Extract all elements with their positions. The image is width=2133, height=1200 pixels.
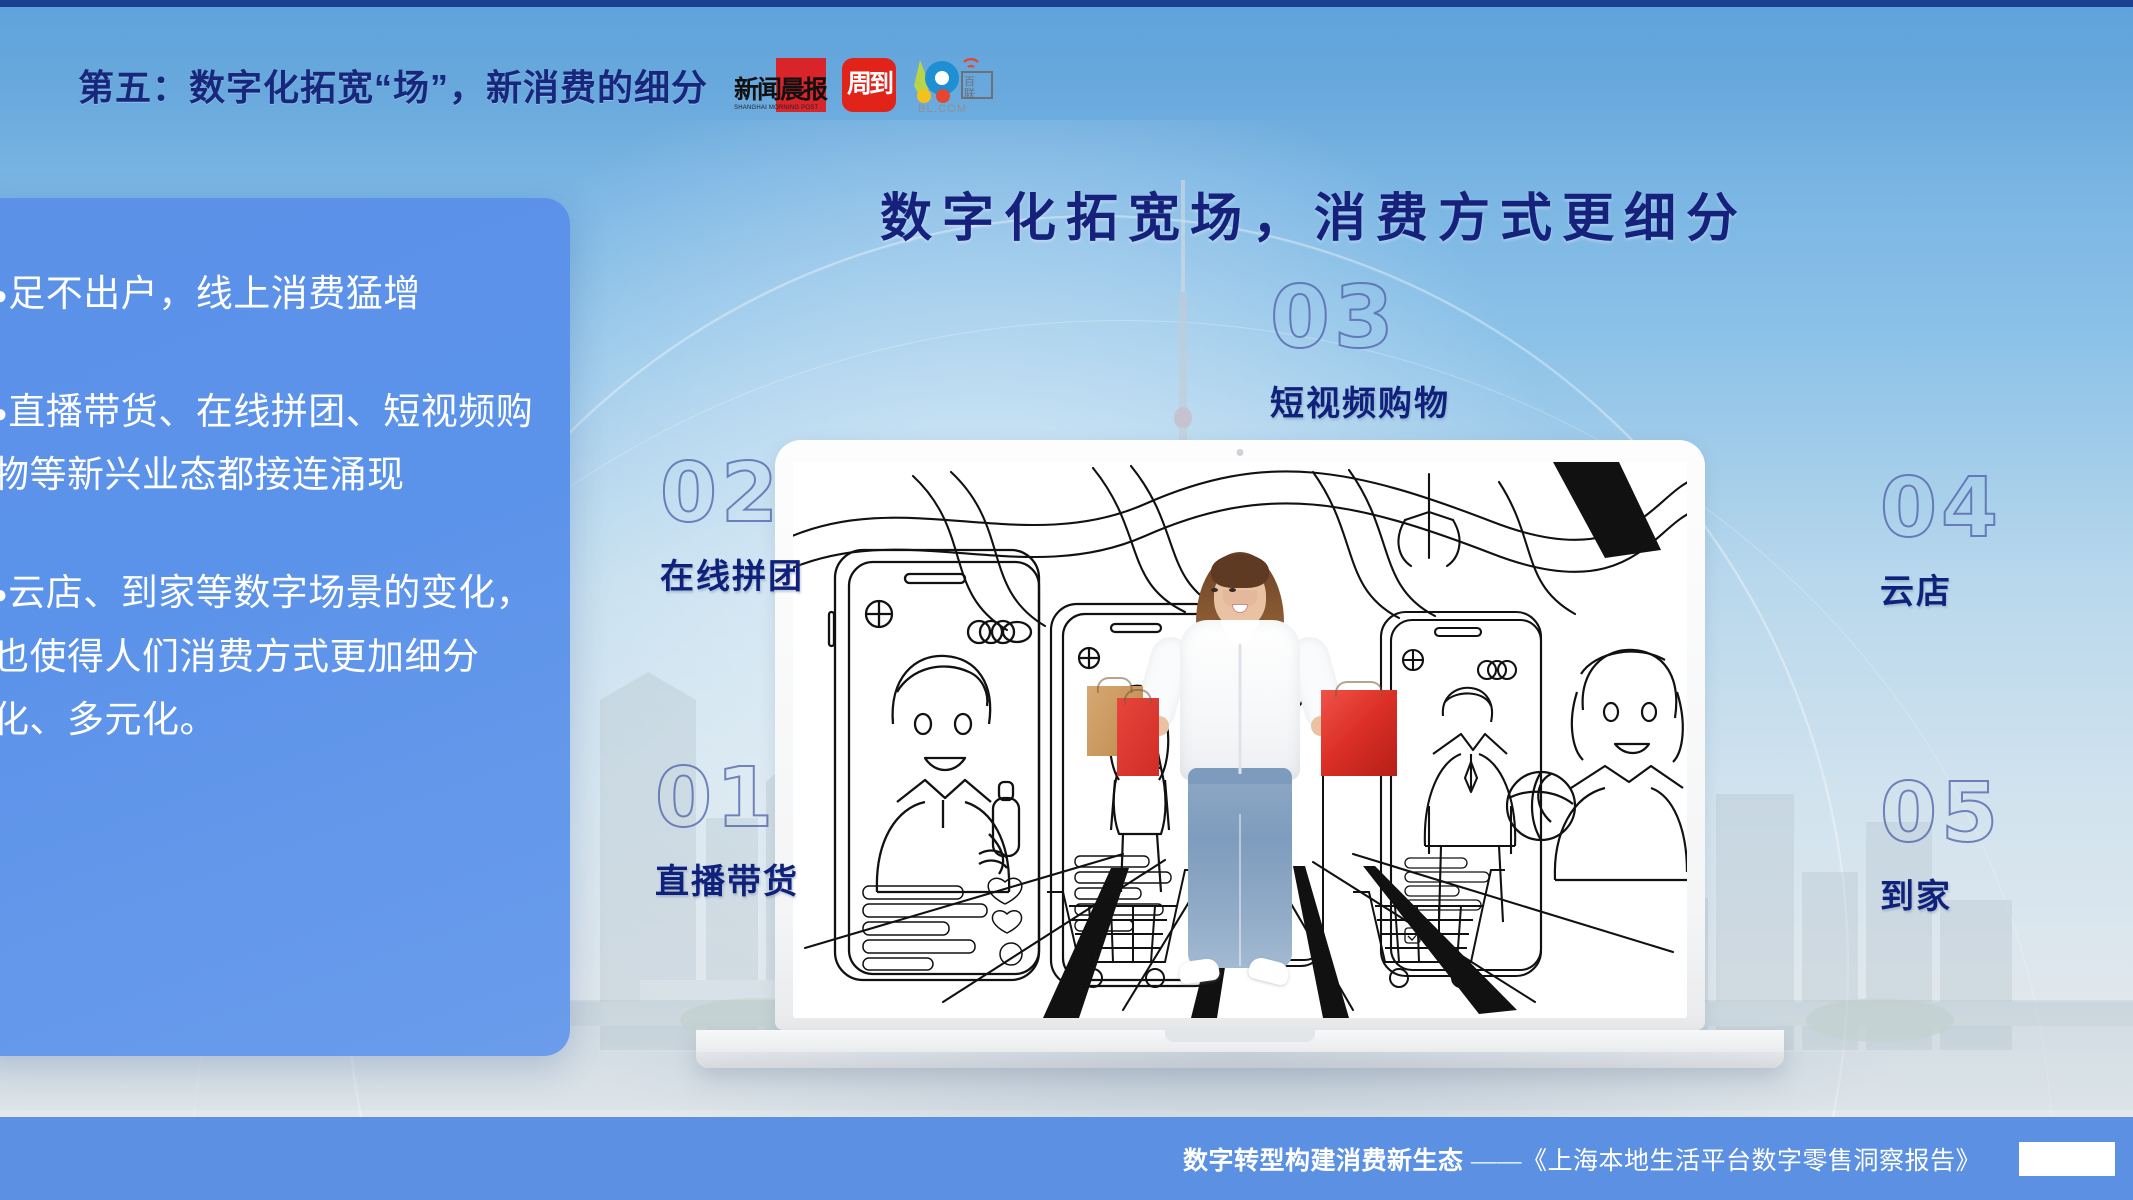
sidebar-bullet-2-text: 直播带货、在线拼团、短视频购物等新兴业态都接连涌现 bbox=[0, 391, 533, 496]
item-03-number: 03 bbox=[1270, 278, 1450, 360]
chenbao-logo-en: SHANGHAI MORNING POST bbox=[734, 105, 818, 111]
laptop-screen bbox=[793, 462, 1687, 1018]
laptop-lid bbox=[775, 440, 1705, 1030]
item-02-group-buy: 02 在线拼团 bbox=[660, 455, 804, 598]
sidebar-bullet-1: ●足不出户，线上消费猛增 bbox=[0, 262, 536, 326]
item-05-delivery-home: 05 到家 bbox=[1880, 775, 2002, 918]
item-01-number: 01 bbox=[655, 760, 799, 838]
bailian-mark-icon: 百 联 bbox=[912, 56, 1004, 104]
slide-footer: 数字转型构建消费新生态 ——《上海本地生活平台数字零售洞察报告》 bbox=[0, 1117, 2133, 1200]
bailian-logo-en: BL.COM bbox=[918, 103, 967, 115]
shopping-bag-red-small bbox=[1117, 698, 1159, 776]
item-01-live-commerce: 01 直播带货 bbox=[655, 760, 799, 903]
main-heading: 数字化拓宽场，消费方式更细分 bbox=[880, 176, 1748, 251]
item-03-short-video-shopping: 03 短视频购物 bbox=[1270, 278, 1450, 425]
chenbao-logo: 新闻晨报 SHANGHAI MORNING POST bbox=[734, 56, 826, 114]
bullet-marker-icon: ● bbox=[0, 579, 8, 609]
woman-hair-front bbox=[1211, 554, 1269, 588]
laptop-mockup bbox=[775, 440, 1705, 1068]
bullet-marker-icon: ● bbox=[0, 398, 8, 428]
item-01-label: 直播带货 bbox=[655, 854, 799, 903]
footer-title: 数字转型构建消费新生态 ——《上海本地生活平台数字零售洞察报告》 bbox=[1183, 1141, 1981, 1177]
woman-eye-left bbox=[1211, 588, 1218, 592]
item-02-label: 在线拼团 bbox=[660, 549, 804, 598]
bailian-logo: 百 联 BL.COM bbox=[912, 56, 1004, 114]
sidebar-bullet-1-text: 足不出户，线上消费猛增 bbox=[8, 273, 421, 314]
item-03-label: 短视频购物 bbox=[1270, 376, 1450, 425]
sidebar-bullet-2: ●直播带货、在线拼团、短视频购物等新兴业态都接连涌现 bbox=[0, 380, 536, 507]
footer-white-block bbox=[2019, 1142, 2115, 1176]
footer-title-text: 数字转型构建消费新生态 bbox=[1183, 1147, 1464, 1175]
item-05-label: 到家 bbox=[1880, 869, 2002, 918]
sidebar-bullet-3: ●云店、到家等数字场景的变化，也使得人们消费方式更加细分化、多元化。 bbox=[0, 561, 536, 752]
woman-shirt-placket bbox=[1239, 644, 1242, 774]
footer-subtitle: ——《上海本地生活平台数字零售洞察报告》 bbox=[1471, 1148, 1981, 1175]
top-accent-rule bbox=[0, 0, 2133, 7]
woman-blue-jeans bbox=[1188, 768, 1292, 968]
slide-canvas: 第五：数字化拓宽“场”，新消费的细分 新闻晨报 SHANGHAI MORNING… bbox=[0, 0, 2133, 1200]
page-title: 第五：数字化拓宽“场”，新消费的细分 bbox=[78, 59, 708, 111]
item-04-label: 云店 bbox=[1880, 564, 2002, 613]
shopping-bag-red-large bbox=[1321, 690, 1397, 776]
woman-eye-right bbox=[1229, 588, 1236, 592]
bag-handle bbox=[1335, 681, 1383, 697]
zhoudao-logo-cn: 周到 bbox=[847, 72, 891, 97]
item-04-number: 04 bbox=[1880, 470, 2002, 548]
logo-group: 新闻晨报 SHANGHAI MORNING POST 周到 bbox=[734, 56, 1004, 114]
laptop-base-notch bbox=[1165, 1030, 1315, 1042]
item-04-cloud-store: 04 云店 bbox=[1880, 470, 2002, 613]
photo-woman-shopper bbox=[1145, 540, 1335, 1018]
sidebar-card: ●足不出户，线上消费猛增 ●直播带货、在线拼团、短视频购物等新兴业态都接连涌现 … bbox=[0, 198, 570, 1056]
bullet-marker-icon: ● bbox=[0, 280, 8, 310]
svg-text:百: 百 bbox=[964, 76, 975, 88]
item-02-number: 02 bbox=[660, 455, 804, 533]
woman-sneaker-left bbox=[1178, 957, 1221, 984]
sidebar-bullet-3-text: 云店、到家等数字场景的变化，也使得人们消费方式更加细分化、多元化。 bbox=[0, 572, 533, 740]
item-05-number: 05 bbox=[1880, 775, 2002, 853]
svg-text:联: 联 bbox=[964, 87, 975, 100]
zhoudao-logo: 周到 bbox=[842, 56, 896, 114]
bag-handle bbox=[1124, 689, 1152, 705]
slide-header: 第五：数字化拓宽“场”，新消费的细分 新闻晨报 SHANGHAI MORNING… bbox=[0, 7, 2133, 162]
webcam-icon bbox=[1237, 449, 1244, 456]
